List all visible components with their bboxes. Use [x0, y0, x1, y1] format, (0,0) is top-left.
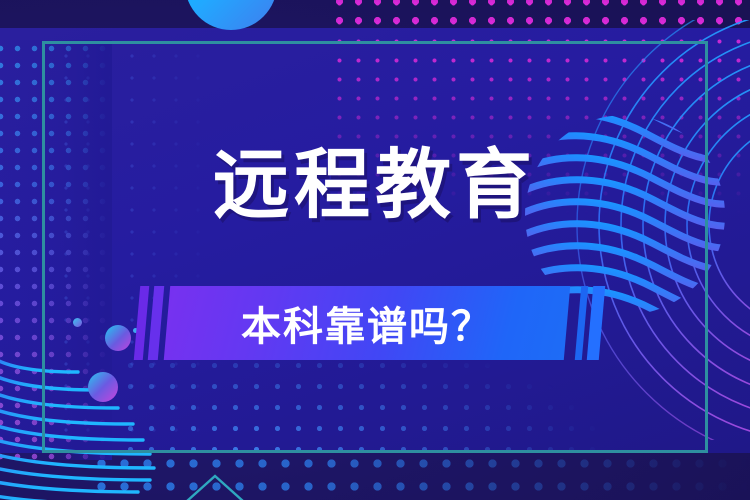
page-title: 远程教育: [0, 148, 750, 224]
banner-accent-right-inner: [575, 286, 588, 360]
gradient-circle-mid: [105, 325, 131, 351]
gradient-circle-lower: [88, 372, 118, 402]
gradient-circle-small: [73, 318, 82, 327]
subtitle-text: 本科靠谱吗？: [167, 286, 567, 360]
banner-accent-right-outer: [587, 286, 605, 360]
blue-dots-bottom-inner: [120, 355, 720, 455]
banner-accent-left-inner: [148, 286, 164, 360]
banner-accent-left-outer: [134, 286, 149, 360]
blue-dots-bottom-outer: [90, 452, 750, 500]
poster-canvas: 远程教育 本科靠谱吗？: [0, 0, 750, 500]
subtitle-banner: 本科靠谱吗？: [135, 278, 615, 360]
